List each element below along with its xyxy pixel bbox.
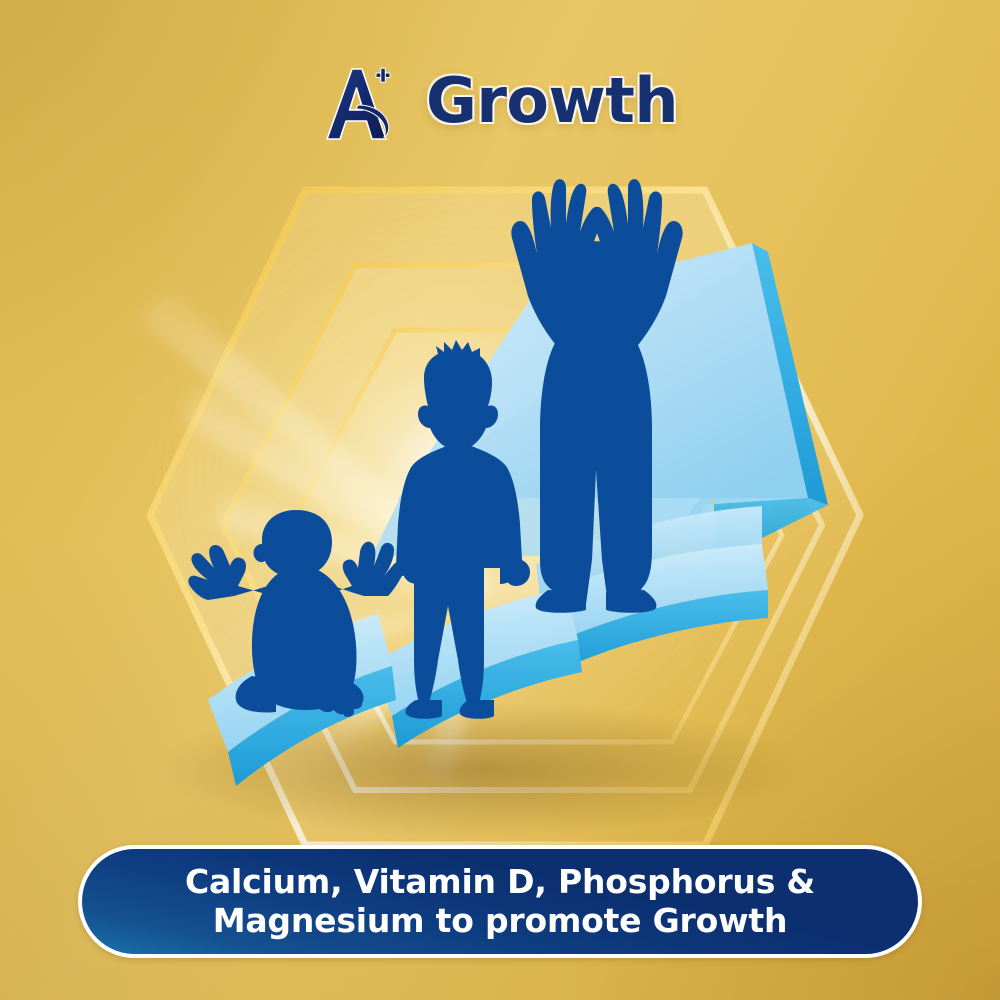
- plus-superscript: [376, 68, 390, 82]
- a-plus-logo: [322, 61, 408, 147]
- poster-root: Growth Calcium, Vitamin D, Phosphorus & …: [0, 0, 1000, 1000]
- benefit-banner-line-1: Calcium, Vitamin D, Phosphorus &: [185, 863, 815, 902]
- benefit-banner: Calcium, Vitamin D, Phosphorus & Magnesi…: [78, 845, 922, 958]
- letter-a-glyph: [327, 68, 390, 139]
- benefit-banner-text: Calcium, Vitamin D, Phosphorus & Magnesi…: [159, 863, 841, 941]
- benefit-banner-line-2: Magnesium to promote Growth: [185, 902, 815, 941]
- brand-title: Growth: [0, 56, 1000, 152]
- page-title: Growth: [426, 70, 678, 138]
